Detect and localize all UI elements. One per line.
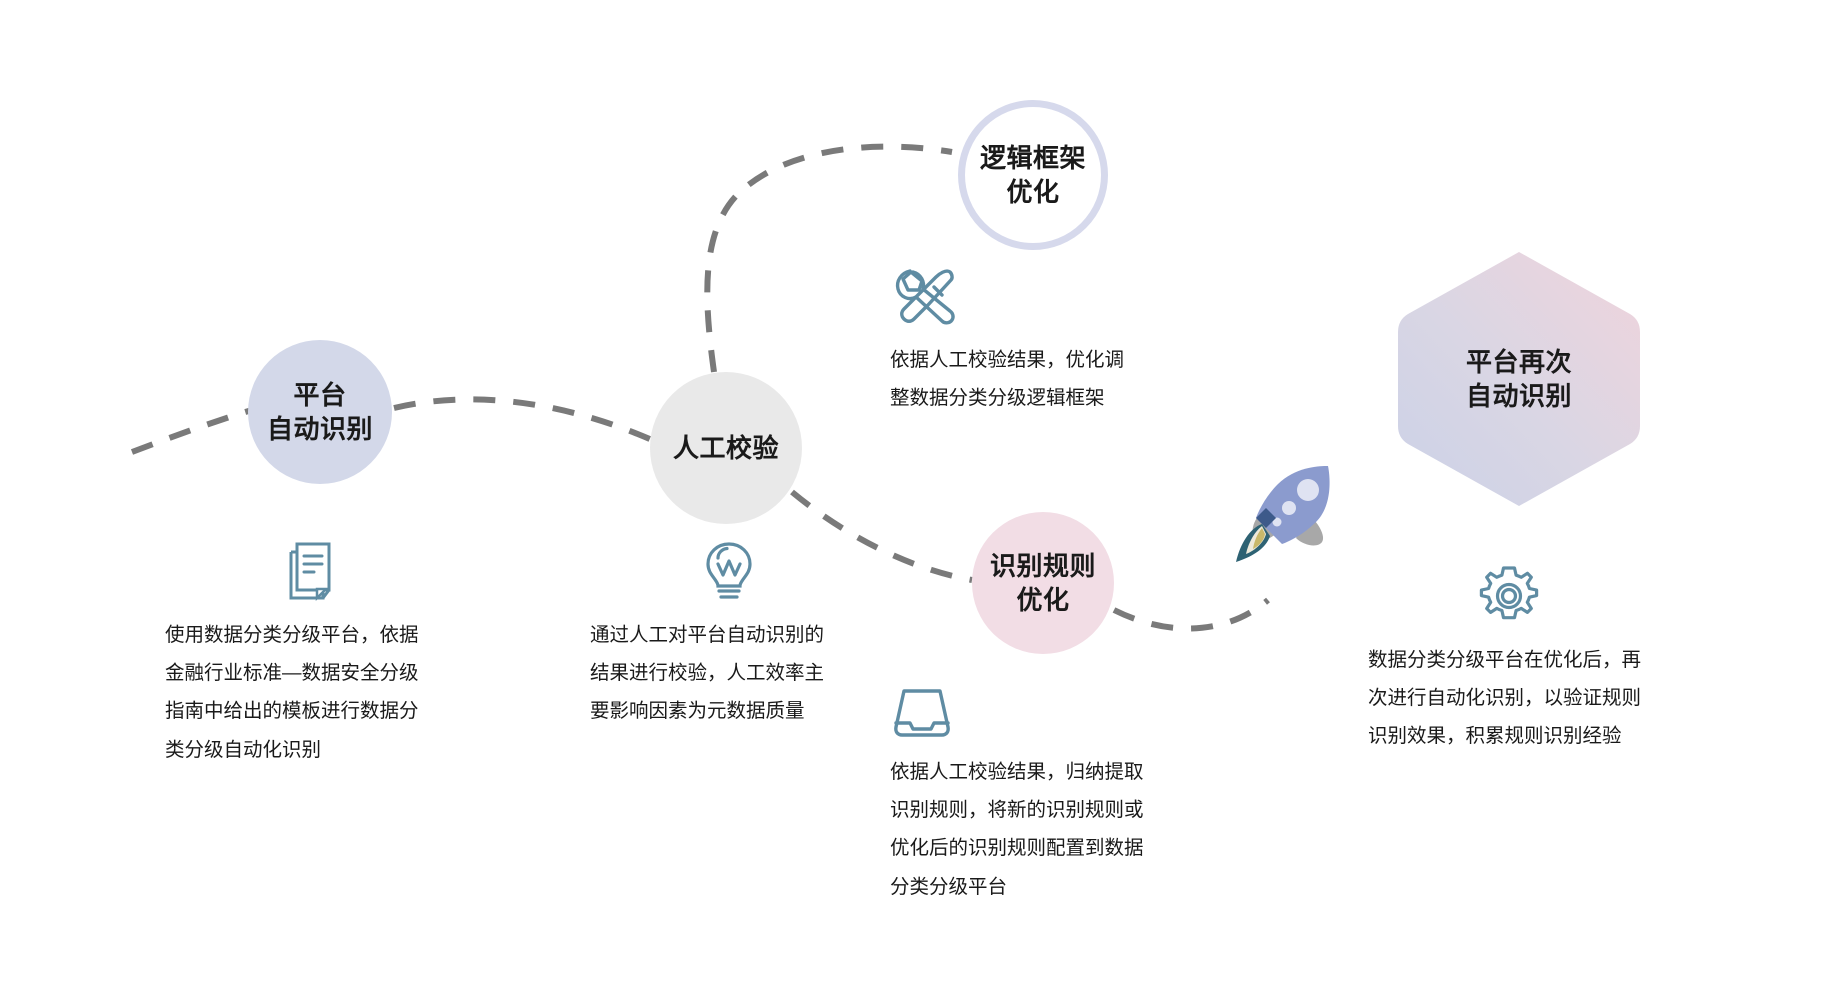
caption-logic: 依据人工校验结果，优化调 整数据分类分级逻辑框架: [890, 265, 1195, 417]
caption-manual-icon-wrap: [590, 540, 890, 602]
caption-rule-icon-wrap: [890, 685, 1210, 739]
node-manual-verification[interactable]: 人工校验: [650, 372, 802, 524]
connector-platform-to-manual: [394, 399, 652, 440]
caption-reautomatic: 数据分类分级平台在优化后，再 次进行自动化识别，以验证规则 识别效果，积累规则识…: [1368, 565, 1718, 756]
diagram-canvas: 平台 自动识别 人工校验 逻辑框架 优化 识别规则 优化 平台再次 自动识别: [0, 0, 1832, 1004]
caption-reautomatic-icon-wrap: [1368, 565, 1718, 627]
caption-platform: 使用数据分类分级平台，依据 金融行业标准—数据安全分级 指南中给出的模板进行数据…: [165, 540, 465, 769]
node-recognition-rule-optimization-label: 识别规则 优化: [990, 549, 1096, 618]
caption-manual-text: 通过人工对平台自动识别的 结果进行校验，人工效率主 要影响因素为元数据质量: [590, 616, 890, 731]
node-manual-verification-label: 人工校验: [673, 431, 779, 465]
rocket-window-large: [1297, 479, 1319, 501]
node-platform-reautomatic-recognition-label: 平台再次 自动识别: [1466, 345, 1572, 414]
document-icon: [283, 540, 341, 602]
node-platform-auto-recognition[interactable]: 平台 自动识别: [248, 340, 392, 484]
node-platform-reautomatic-recognition[interactable]: 平台再次 自动识别: [1392, 248, 1646, 510]
node-logic-framework-optimization[interactable]: 逻辑框架 优化: [958, 100, 1108, 250]
connector-rule-to-hexagon: [1114, 600, 1268, 629]
gear-icon: [1478, 565, 1540, 627]
caption-logic-icon-wrap: [890, 265, 1195, 327]
caption-manual: 通过人工对平台自动识别的 结果进行校验，人工效率主 要影响因素为元数据质量: [590, 540, 890, 731]
caption-rule: 依据人工校验结果，归纳提取 识别规则，将新的识别规则或 优化后的识别规则配置到数…: [890, 685, 1210, 906]
rocket-illustration: [1232, 452, 1352, 572]
caption-rule-text: 依据人工校验结果，归纳提取 识别规则，将新的识别规则或 优化后的识别规则配置到数…: [890, 753, 1210, 906]
caption-platform-icon-wrap: [165, 540, 465, 602]
node-platform-auto-recognition-label: 平台 自动识别: [267, 378, 373, 447]
wrench-screwdriver-icon: [890, 265, 958, 327]
connector-start-to-platform: [132, 410, 252, 452]
rocket-icon: [1232, 452, 1352, 572]
caption-platform-text: 使用数据分类分级平台，依据 金融行业标准—数据安全分级 指南中给出的模板进行数据…: [165, 616, 465, 769]
node-logic-framework-optimization-label: 逻辑框架 优化: [980, 141, 1086, 210]
caption-logic-text: 依据人工校验结果，优化调 整数据分类分级逻辑框架: [890, 341, 1195, 417]
inbox-tray-icon: [890, 685, 954, 739]
caption-reautomatic-text: 数据分类分级平台在优化后，再 次进行自动化识别，以验证规则 识别效果，积累规则识…: [1368, 641, 1718, 756]
node-recognition-rule-optimization[interactable]: 识别规则 优化: [972, 512, 1114, 654]
lightbulb-icon: [700, 540, 758, 602]
rocket-window-medium: [1282, 501, 1296, 515]
